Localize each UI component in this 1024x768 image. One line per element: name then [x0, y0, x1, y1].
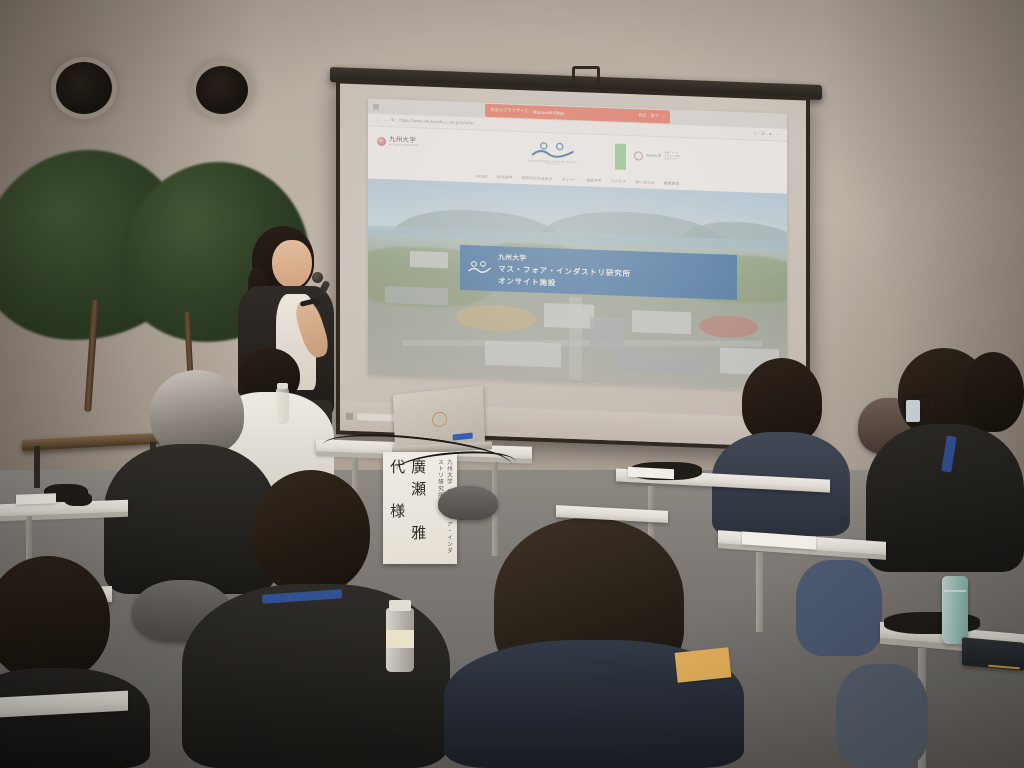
mint-thermos-tumbler[interactable]: [942, 576, 968, 644]
toast-close-icon[interactable]: ×: [663, 114, 665, 120]
ceiling-vent-right: [196, 66, 248, 114]
foreground-right-handout: [675, 647, 732, 682]
nav-item-international[interactable]: 国際研究交流拠点: [522, 176, 553, 182]
smartphone-recording[interactable]: [906, 400, 920, 422]
nav-item-reservation[interactable]: 施設予約: [586, 178, 602, 184]
ceiling-vent-left: [56, 62, 112, 114]
screen-hook: [572, 66, 600, 84]
presenter-chair[interactable]: [438, 486, 498, 520]
nav-item-related[interactable]: 関連情報: [664, 181, 680, 187]
settings-ellipsis-icon[interactable]: ⋯: [776, 131, 781, 137]
seminar-room-photo: 既定のブラウザーに Microsoft Edge 設定 後で × ← → ↻: [0, 0, 1024, 768]
toast-later-button[interactable]: 後で: [651, 113, 659, 119]
left-desk-mouse: [64, 492, 92, 506]
partner-logo-name: 九州大学: [646, 154, 661, 160]
tab-favicon: [373, 104, 379, 110]
foreground-center-head: [252, 470, 370, 594]
left-desk-paper: [16, 493, 56, 504]
toast-buttons[interactable]: 設定 後で ×: [639, 113, 665, 120]
kyushu-university-logo[interactable]: 九州大学 KYUSHU UNIVERSITY: [377, 137, 420, 149]
foreground-left-body: [0, 668, 150, 768]
foreground-bottle-cap: [389, 600, 411, 611]
address-bar-actions[interactable]: ☆ ☰ ● ⋯: [753, 130, 780, 137]
imi-wave-mark-icon: [529, 141, 575, 160]
kyushu-university-mark-icon: [377, 137, 386, 146]
laptop-sticker: [453, 432, 473, 440]
far-right-chair[interactable]: [836, 664, 928, 768]
start-button-icon[interactable]: [346, 412, 353, 419]
water-bottle-back-cap: [277, 383, 288, 389]
banner-imi-mark-icon: [468, 260, 491, 276]
hp-logo-icon: [432, 411, 448, 428]
toast-set-button[interactable]: 設定: [639, 113, 647, 119]
nav-item-access[interactable]: アクセス: [611, 179, 626, 185]
profile-icon[interactable]: ●: [769, 132, 772, 137]
foreground-bottle-label: [386, 630, 414, 648]
hero-aerial-photo: 九州大学 マス・フォア・インダストリ研究所 オンサイト施設: [368, 178, 787, 391]
tumbler-cap-line: [944, 590, 966, 592]
nav-item-contact[interactable]: 問い合わせ: [635, 180, 654, 186]
partner-center-logo: 九州大学 数理・データ サイエンス教育 研究センター: [634, 151, 680, 162]
microphone-head-icon: [312, 272, 323, 283]
ku-logo-en: KYUSHU UNIVERSITY: [389, 145, 420, 149]
right-blue-chair[interactable]: [796, 560, 882, 656]
forward-arrow-icon[interactable]: →: [383, 117, 388, 123]
nav-item-home[interactable]: HOME: [476, 174, 488, 179]
presenter-face: [272, 240, 312, 288]
right-desk-lower-leg: [756, 552, 763, 632]
toast-app-name: Microsoft Edge: [533, 109, 565, 115]
bench-leg-left: [34, 446, 40, 488]
address-bar-url[interactable]: https://www.imi.kyushu-u.ac.jp/onsite/: [399, 118, 474, 126]
nav-item-seminar[interactable]: セミナー: [562, 177, 578, 183]
partner-logo-mark-icon: [634, 151, 643, 160]
collections-icon[interactable]: ☰: [761, 131, 765, 137]
imi-logo: Institute of Mathematics for Industry Ky…: [528, 141, 577, 166]
audience-grey-hair-body: [104, 444, 276, 594]
green-divider-bar: [615, 143, 626, 169]
browser-nav-icons[interactable]: ← → ↻: [375, 117, 395, 124]
nav-item-research[interactable]: 研究部門: [497, 175, 513, 181]
back-arrow-icon[interactable]: ←: [375, 117, 380, 123]
toast-message: 既定のブラウザーに: [490, 107, 529, 114]
imi-subcaption: Kyushu University: [544, 163, 560, 166]
partner-line-3: 研究センター: [664, 158, 680, 161]
browser-window[interactable]: 既定のブラウザーに Microsoft Edge 設定 後で × ← → ↻: [368, 98, 787, 391]
reload-icon[interactable]: ↻: [391, 117, 395, 123]
favorite-star-icon[interactable]: ☆: [753, 130, 757, 136]
audience-far-right-head: [962, 352, 1024, 432]
water-bottle-back: [276, 388, 289, 424]
